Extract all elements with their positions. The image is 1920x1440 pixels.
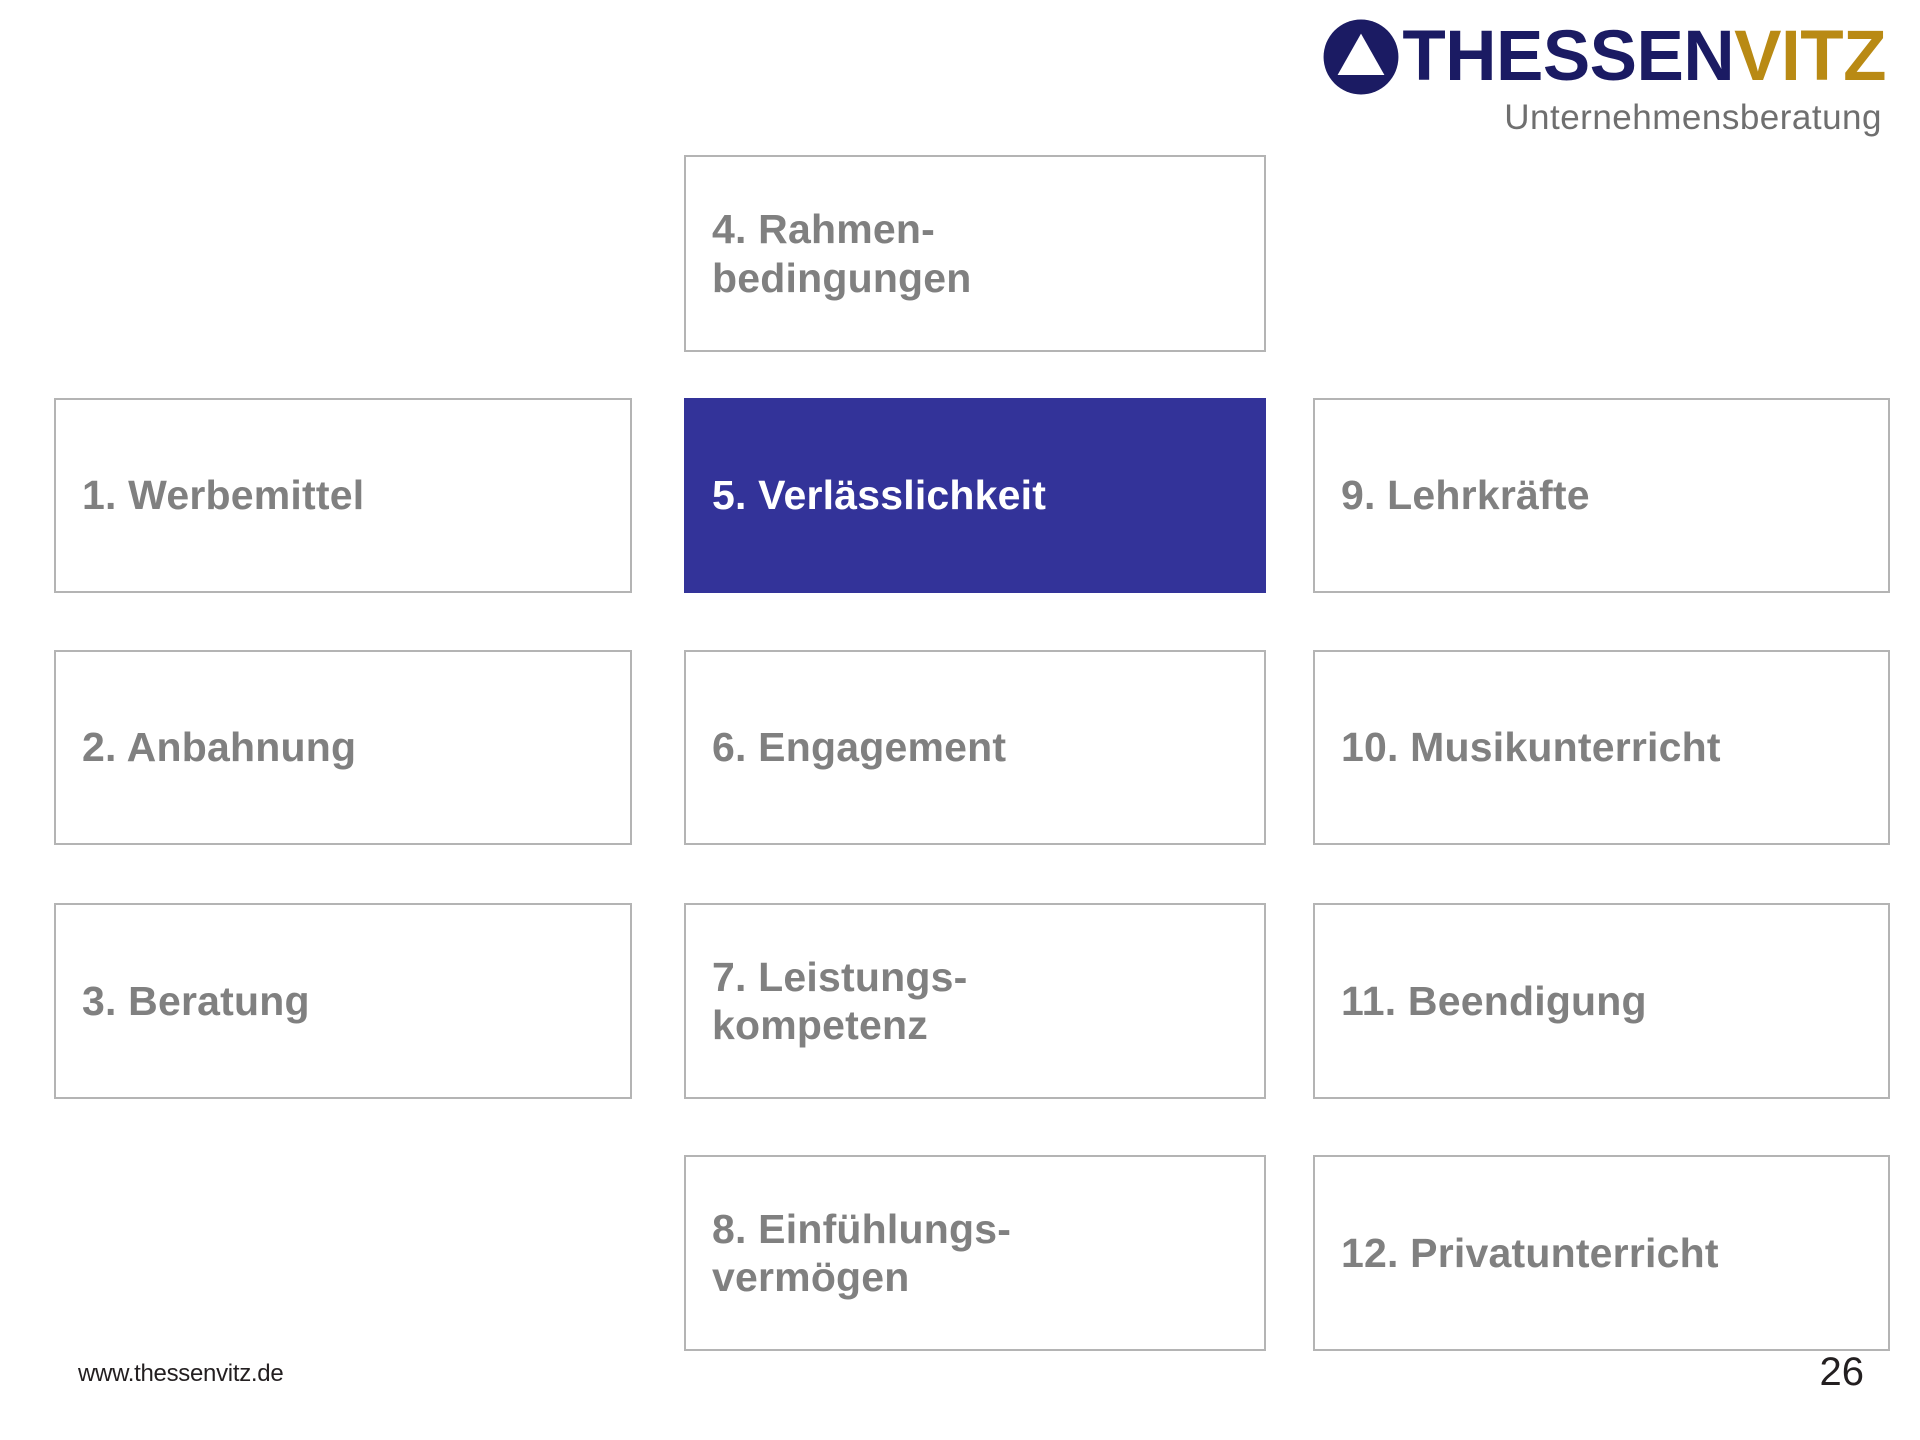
diagram-box-label: 10. Musikunterricht: [1315, 723, 1735, 771]
diagram-box-1[interactable]: 1. Werbemittel: [54, 398, 632, 593]
diagram-box-label: 1. Werbemittel: [56, 471, 378, 519]
diagram-box-label: 2. Anbahnung: [56, 723, 370, 771]
logo-wordmark: THESSENVITZ: [1402, 23, 1886, 90]
diagram-box-2[interactable]: 2. Anbahnung: [54, 650, 632, 845]
logo-wordmark-row: THESSENVITZ: [1322, 18, 1886, 96]
diagram-box-9[interactable]: 9. Lehrkräfte: [1313, 398, 1890, 593]
diagram-box-label: 5. Verlässlichkeit: [686, 471, 1060, 519]
footer-page-number: 26: [1820, 1350, 1865, 1395]
diagram-box-6[interactable]: 6. Engagement: [684, 650, 1266, 845]
diagram-box-11[interactable]: 11. Beendigung: [1313, 903, 1890, 1099]
diagram-box-12[interactable]: 12. Privatunterricht: [1313, 1155, 1890, 1351]
diagram-box-label: 3. Beratung: [56, 977, 324, 1025]
logo-wordmark-secondary: VITZ: [1734, 17, 1886, 96]
diagram-box-5-selected[interactable]: 5. Verlässlichkeit: [684, 398, 1266, 593]
diagram-box-7[interactable]: 7. Leistungs- kompetenz: [684, 903, 1266, 1099]
diagram-box-label: 11. Beendigung: [1315, 977, 1661, 1025]
logo-subtitle: Unternehmensberatung: [1504, 100, 1882, 135]
triangle-in-circle-logo-icon: [1322, 18, 1400, 96]
diagram-box-label: 8. Einfühlungs- vermögen: [686, 1205, 1025, 1302]
diagram-box-label: 9. Lehrkräfte: [1315, 471, 1604, 519]
logo-wordmark-primary: THESSEN: [1402, 17, 1734, 96]
diagram-box-4[interactable]: 4. Rahmen- bedingungen: [684, 155, 1266, 352]
diagram-box-label: 4. Rahmen- bedingungen: [686, 205, 986, 302]
diagram-box-10[interactable]: 10. Musikunterricht: [1313, 650, 1890, 845]
slide-canvas: THESSENVITZ Unternehmensberatung 4. Rahm…: [0, 0, 1920, 1440]
diagram-box-label: 12. Privatunterricht: [1315, 1229, 1733, 1277]
diagram-box-label: 6. Engagement: [686, 723, 1020, 771]
diagram-box-3[interactable]: 3. Beratung: [54, 903, 632, 1099]
diagram-box-label: 7. Leistungs- kompetenz: [686, 953, 981, 1050]
diagram-box-8[interactable]: 8. Einfühlungs- vermögen: [684, 1155, 1266, 1351]
company-logo: THESSENVITZ Unternehmensberatung: [1322, 18, 1886, 135]
footer-website-url: www.thessenvitz.de: [78, 1360, 283, 1388]
